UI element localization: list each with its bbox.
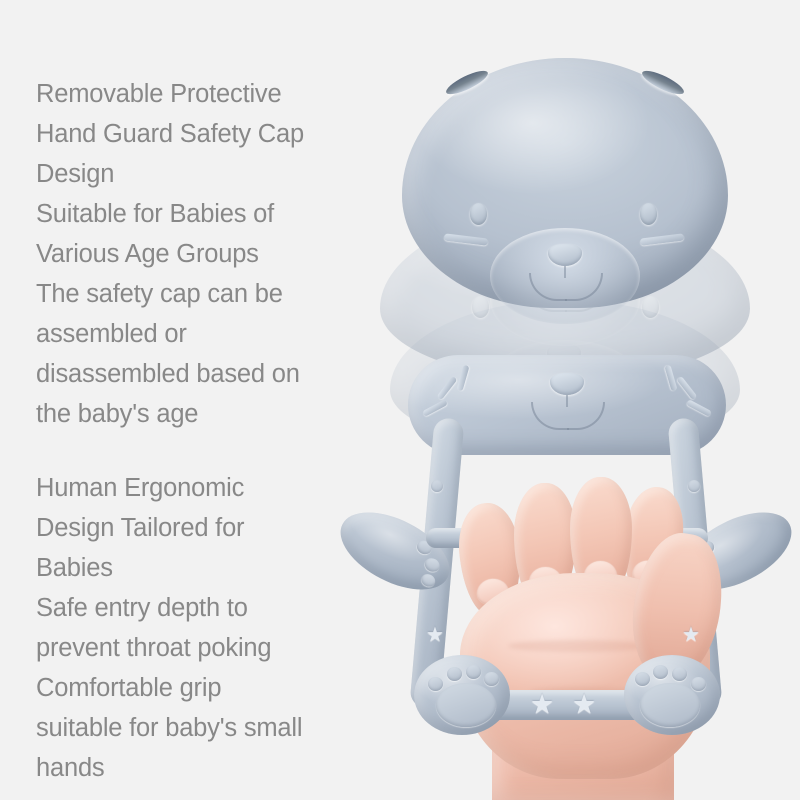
right-paw-foot[interactable]: [624, 655, 720, 735]
copy-line: Design Tailored for: [36, 508, 406, 548]
right-foot-toe-1: [691, 677, 706, 691]
copy-line: prevent throat poking: [36, 628, 406, 668]
left-arm-toe-3: [419, 572, 437, 589]
star-upright-left: ★: [426, 625, 444, 645]
bear-head-safety-cap[interactable]: [402, 58, 728, 308]
copy-block-ergonomic: Human Ergonomic Design Tailored for Babi…: [36, 468, 406, 788]
copy-line: suitable for baby's small: [36, 708, 406, 748]
right-foot-toe-2: [672, 667, 687, 681]
right-foot-toe-4: [635, 672, 650, 686]
eye-right: [640, 203, 657, 225]
copy-line: hands: [36, 748, 406, 788]
copy-line: Human Ergonomic: [36, 468, 406, 508]
copy-line: assembled or: [36, 314, 406, 354]
product-feature-image: ★ ★ ★ ★: [0, 0, 800, 800]
palm-crease-1: [508, 640, 648, 652]
copy-line: Hand Guard Safety Cap: [36, 114, 406, 154]
right-foot-pad: [640, 683, 700, 727]
left-paw-foot[interactable]: [414, 655, 510, 735]
star-bottom-2: ★: [572, 691, 596, 718]
copy-block-safety-cap: Removable Protective Hand Guard Safety C…: [36, 74, 406, 434]
eye-left: [470, 203, 487, 225]
left-foot-toe-1: [428, 677, 443, 691]
left-foot-toe-3: [466, 665, 481, 679]
copy-line: Suitable for Babies of: [36, 194, 406, 234]
copy-line: the baby's age: [36, 394, 406, 434]
copy-line: Comfortable grip: [36, 668, 406, 708]
copy-line: Design: [36, 154, 406, 194]
star-bottom-1: ★: [530, 691, 554, 718]
copy-line: Babies: [36, 548, 406, 588]
star-upright-right: ★: [682, 625, 700, 645]
copy-line: Safe entry depth to: [36, 588, 406, 628]
left-foot-pad: [436, 683, 496, 727]
copy-line: disassembled based on: [36, 354, 406, 394]
feature-copy-panel: Removable Protective Hand Guard Safety C…: [36, 74, 406, 788]
copy-line: Various Age Groups: [36, 234, 406, 274]
copy-line: The safety cap can be: [36, 274, 406, 314]
left-foot-toe-2: [447, 667, 462, 681]
left-foot-toe-4: [484, 672, 499, 686]
copy-line: Removable Protective: [36, 74, 406, 114]
right-foot-toe-3: [653, 665, 668, 679]
